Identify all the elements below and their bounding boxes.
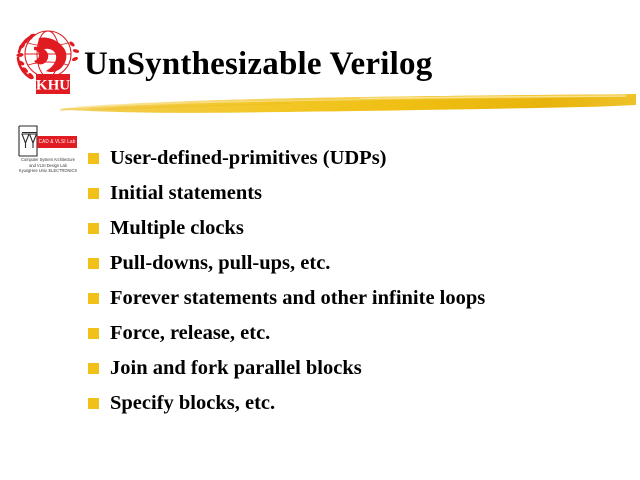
list-item: Forever statements and other infinite lo… bbox=[88, 280, 636, 315]
list-item: Specify blocks, etc. bbox=[88, 385, 636, 420]
slide-canvas: KHU UnSynthesizable Verilog bbox=[0, 0, 640, 480]
list-item-label: Join and fork parallel blocks bbox=[110, 356, 362, 380]
lab-badge-text: CAD & VLSI Lab bbox=[39, 136, 76, 148]
lab-badge: CAD & VLSI Lab bbox=[37, 136, 77, 148]
khu-emblem-icon: KHU bbox=[12, 24, 84, 96]
page-title: UnSynthesizable Verilog bbox=[84, 44, 432, 84]
list-item: Multiple clocks bbox=[88, 210, 636, 245]
lab-caption-line-3: KyungHee Univ. ELECTRONICS bbox=[17, 168, 80, 174]
bullet-square-icon bbox=[88, 153, 99, 164]
bullet-square-icon bbox=[88, 223, 99, 234]
list-item: User-defined-primitives (UDPs) bbox=[88, 140, 636, 175]
list-item-label: Forever statements and other infinite lo… bbox=[110, 286, 485, 310]
bullet-square-icon bbox=[88, 258, 99, 269]
lab-caption: Computer System Architecture and VLSI De… bbox=[15, 157, 81, 174]
list-item-label: Initial statements bbox=[110, 181, 262, 205]
list-item: Pull-downs, pull-ups, etc. bbox=[88, 245, 636, 280]
list-item: Force, release, etc. bbox=[88, 315, 636, 350]
list-item-label: Multiple clocks bbox=[110, 216, 244, 240]
bullet-square-icon bbox=[88, 293, 99, 304]
list-item-label: Force, release, etc. bbox=[110, 321, 270, 345]
lab-logo: CAD & VLSI Lab Computer System Architect… bbox=[15, 123, 81, 179]
title-underline-brushstroke bbox=[60, 88, 638, 116]
list-item-label: Pull-downs, pull-ups, etc. bbox=[110, 251, 330, 275]
bullet-square-icon bbox=[88, 328, 99, 339]
bullet-square-icon bbox=[88, 188, 99, 199]
list-item-label: Specify blocks, etc. bbox=[110, 391, 275, 415]
list-item: Initial statements bbox=[88, 175, 636, 210]
list-item-label: User-defined-primitives (UDPs) bbox=[110, 146, 387, 170]
bullet-list: User-defined-primitives (UDPs) Initial s… bbox=[88, 140, 636, 420]
khu-logo: KHU bbox=[12, 24, 84, 96]
list-item: Join and fork parallel blocks bbox=[88, 350, 636, 385]
bullet-square-icon bbox=[88, 363, 99, 374]
brushstroke-shape bbox=[60, 88, 638, 116]
bullet-square-icon bbox=[88, 398, 99, 409]
